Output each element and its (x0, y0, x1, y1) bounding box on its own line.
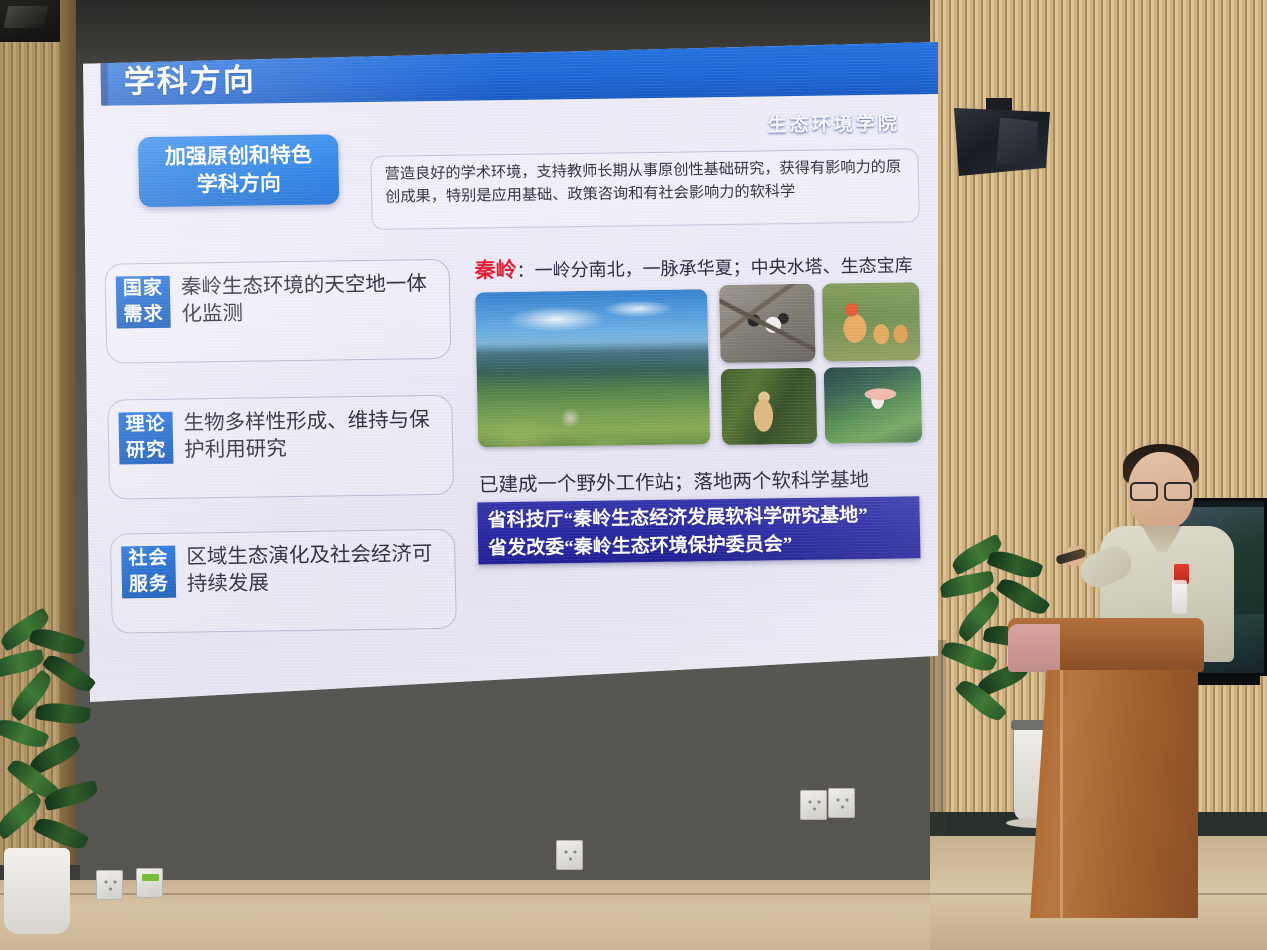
row-tag-0-line2: 需求 (123, 302, 164, 329)
row-tag-2-line2: 服务 (129, 572, 170, 599)
water-bottle (1172, 580, 1187, 614)
research-base-band: 省科技厅“秦岭生态经济发展软科学研究基地” 省发改委“秦岭生态环境保护委员会” (477, 496, 920, 564)
podium-edge-highlight (1060, 670, 1063, 918)
discipline-row-theory-research: 理论 研究 生物多样性形成、维持与保护利用研究 (107, 395, 454, 500)
row-tag-0: 国家 需求 (116, 276, 171, 329)
lecture-hall-scene: 学科方向 生态环境学院 School of Ecology and Enviro… (0, 0, 1267, 950)
row-tag-2: 社会 服务 (121, 546, 176, 599)
research-base-line1: 省科技厅“秦岭生态经济发展软科学研究基地” (487, 501, 910, 534)
discipline-row-national-demand: 国家 需求 秦岭生态环境的天空地一体化监测 (104, 259, 451, 364)
projection-screen: 学科方向 生态环境学院 School of Ecology and Enviro… (78, 42, 938, 702)
photo-crested-ibis (824, 366, 923, 443)
plant-pot-left (4, 848, 70, 934)
qinling-keyword: 秦岭 (474, 258, 516, 283)
wall-speaker-icon (950, 108, 1050, 176)
monkey-image (822, 282, 921, 361)
ibis-image (824, 366, 923, 443)
row-tag-1: 理论 研究 (118, 412, 173, 465)
research-base-line2: 省发改委“秦岭生态环境保护委员会” (488, 529, 911, 562)
headline-chip-line2: 学科方向 (197, 170, 282, 199)
network-outlet[interactable] (136, 868, 163, 898)
school-logo-en: School of Ecology and Environment (746, 136, 922, 147)
field-station-note: 已建成一个野外工作站；落地两个软科学基地 (479, 463, 870, 497)
power-outlet-right[interactable] (800, 790, 827, 820)
outlet-socket-holes (834, 796, 851, 810)
school-logo: 生态环境学院 School of Ecology and Environment (746, 108, 923, 150)
podium-body (1030, 670, 1198, 918)
row-tag-0-line1: 国家 (123, 276, 164, 303)
presentation-slide: 学科方向 生态环境学院 School of Ecology and Enviro… (78, 42, 938, 702)
podium-top-left-panel (1008, 624, 1060, 672)
row-tag-2-line1: 社会 (128, 546, 169, 573)
screen-surface: 学科方向 生态环境学院 School of Ecology and Enviro… (78, 42, 938, 702)
panda-image (719, 284, 816, 363)
photo-grid (475, 282, 930, 453)
slide-title-bar: 学科方向 (100, 42, 938, 106)
row-text-1: 生物多样性形成、维持与保护利用研究 (183, 406, 444, 466)
headline-chip: 加强原创和特色 学科方向 (138, 134, 339, 207)
photo-giant-panda (719, 284, 816, 363)
photo-golden-snub-nosed-monkey (822, 282, 921, 361)
headline-chip-line1: 加强原创和特色 (165, 142, 313, 172)
ceiling-vent (0, 0, 60, 42)
row-tag-1-line2: 研究 (126, 438, 167, 465)
intro-paragraph-text: 营造良好的学术环境，支持教师长期从事原创性基础研究，获得有影响力的原创成果，特别… (385, 159, 902, 206)
glasses-icon (1130, 482, 1192, 497)
podium (1008, 618, 1204, 918)
photo-qinling-mountain-landscape (475, 289, 710, 447)
power-outlet-right-2[interactable] (828, 788, 855, 818)
photo-takin (721, 368, 818, 445)
mountain-image (475, 289, 710, 447)
title-accent-bar (100, 52, 108, 106)
qinling-rest: ：一岭分南北，一脉承华夏；中央水塔、生态宝库 (516, 255, 912, 281)
power-outlet-center[interactable] (556, 840, 583, 870)
outlet-socket-holes (562, 848, 579, 862)
qinling-caption: 秦岭：一岭分南北，一脉承华夏；中央水塔、生态宝库 (474, 248, 930, 284)
row-text-0: 秦岭生态环境的天空地一体化监测 (181, 270, 442, 330)
outlet-socket-holes (806, 798, 823, 812)
row-text-2: 区域生态演化及社会经济可持续发展 (186, 540, 447, 600)
row-tag-1-line1: 理论 (125, 412, 166, 439)
discipline-row-social-service: 社会 服务 区域生态演化及社会经济可持续发展 (110, 529, 457, 634)
school-logo-cn: 生态环境学院 (746, 108, 923, 137)
intro-paragraph-box: 营造良好的学术环境，支持教师长期从事原创性基础研究，获得有影响力的原创成果，特别… (370, 148, 919, 230)
takin-image (721, 368, 818, 445)
slide-title: 学科方向 (123, 54, 256, 101)
